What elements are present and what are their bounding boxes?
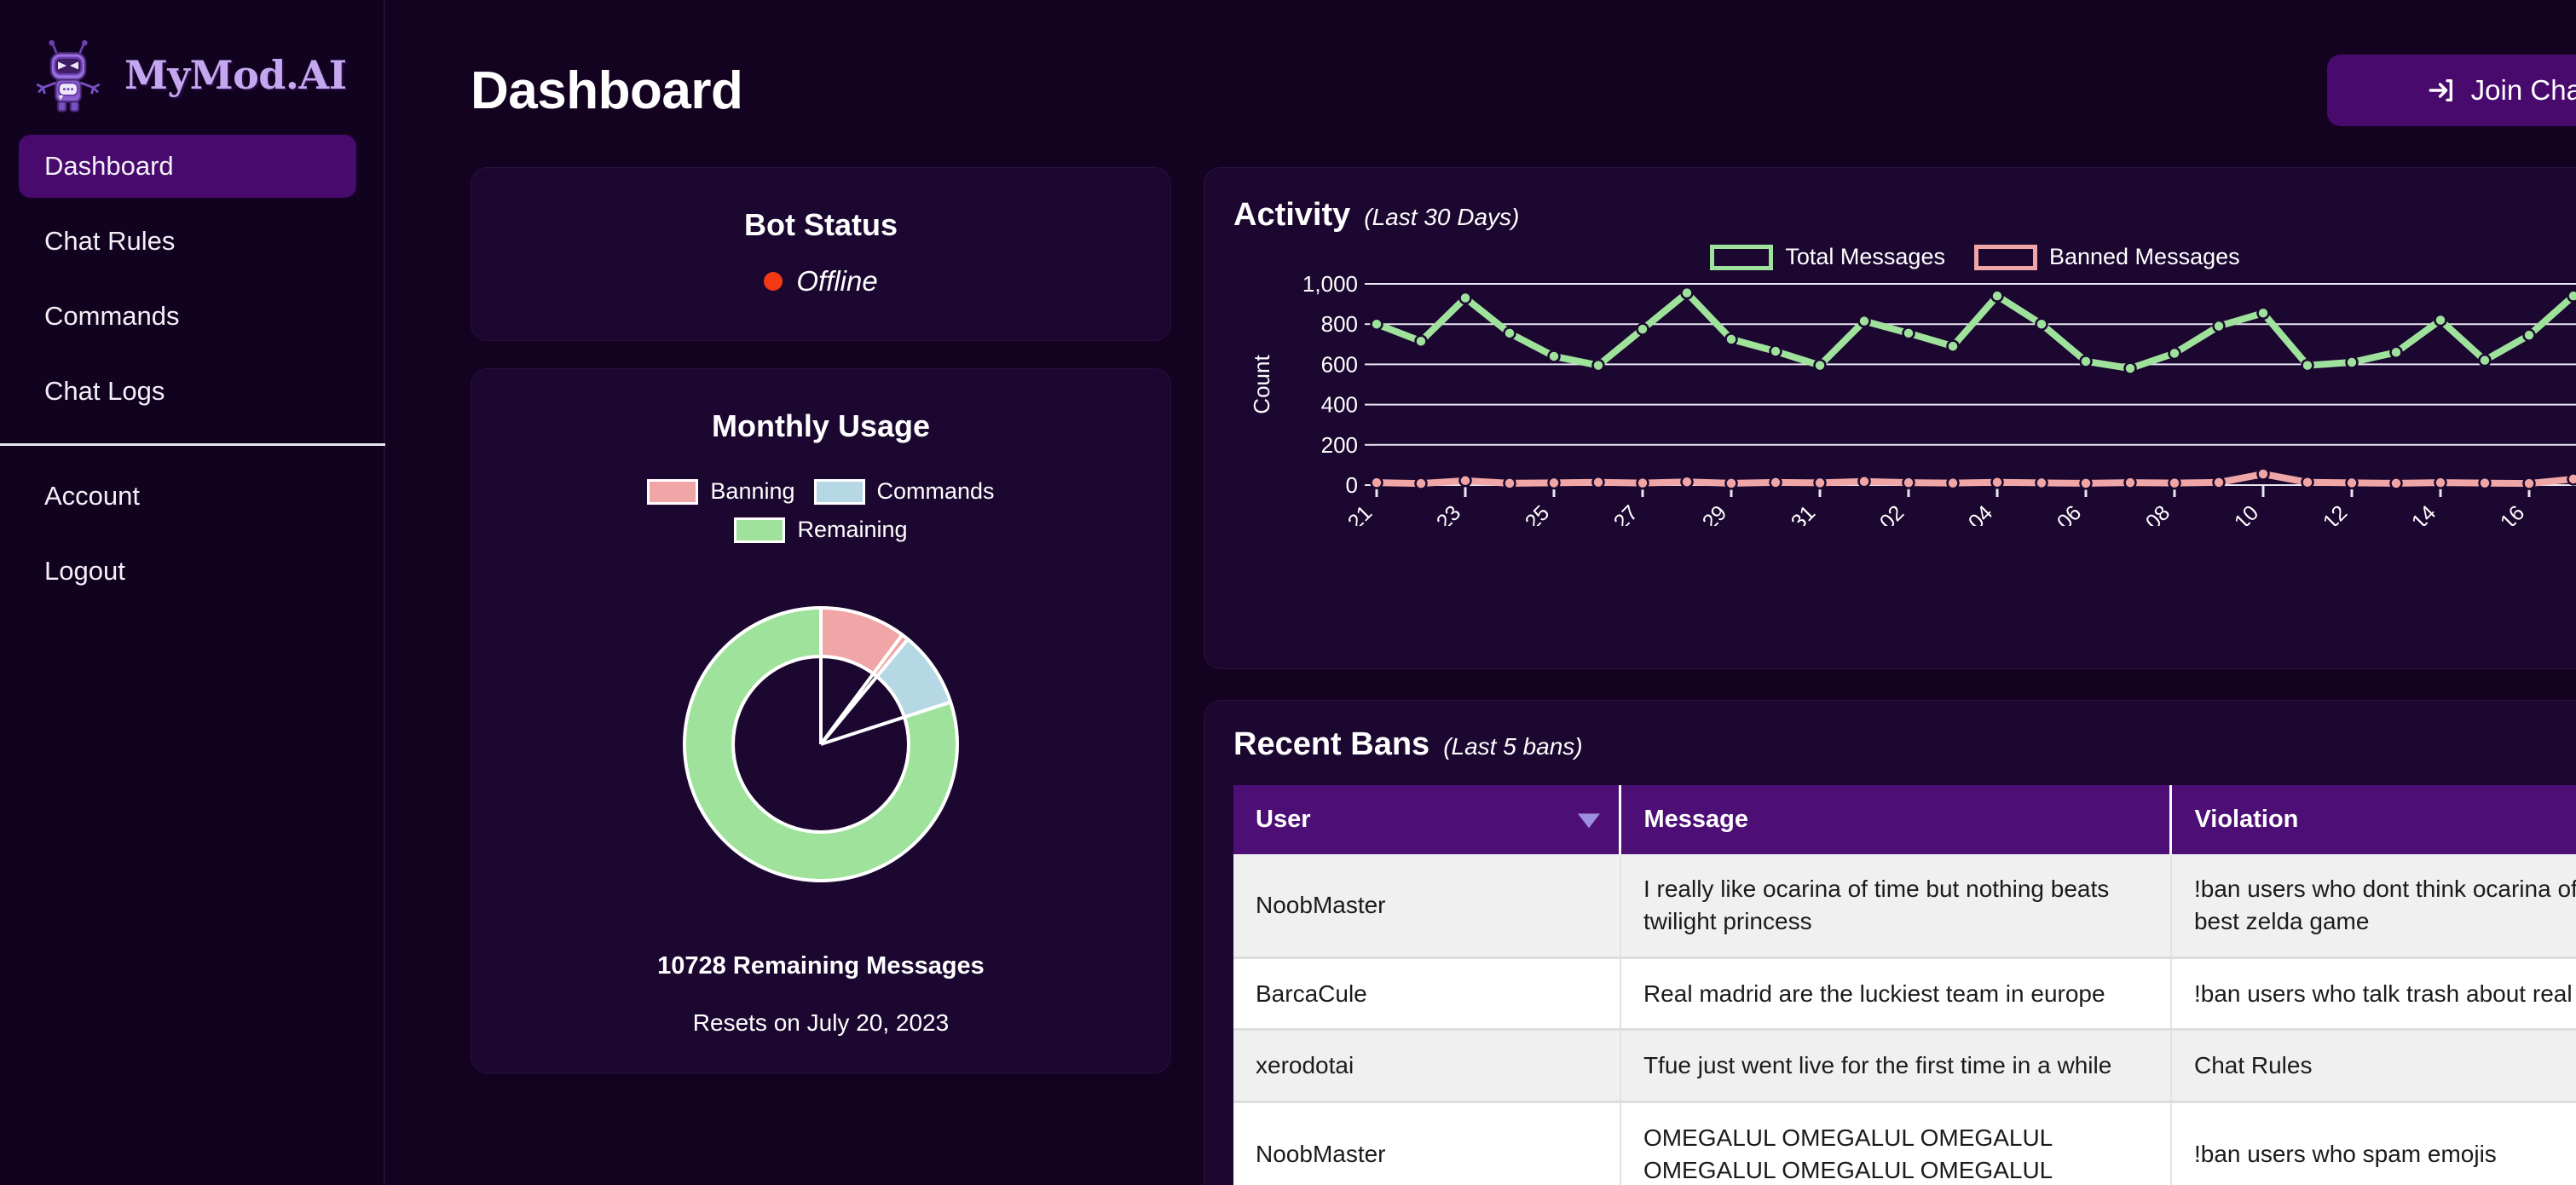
- status-dot-icon: [764, 272, 783, 291]
- legend-label: Remaining: [797, 517, 907, 543]
- robot-icon: [29, 36, 107, 114]
- sidebar-item-label: Commands: [44, 301, 180, 331]
- legend-item-total-messages[interactable]: Total Messages: [1710, 244, 1945, 270]
- table-row[interactable]: NoobMasterOMEGALUL OMEGALUL OMEGALUL OME…: [1233, 1102, 2576, 1185]
- ban-message-cell: OMEGALUL OMEGALUL OMEGALUL OMEGALUL OMEG…: [1620, 1102, 2171, 1185]
- legend-item-remaining[interactable]: Remaining: [734, 517, 907, 543]
- ban-message-cell: I really like ocarina of time but nothin…: [1620, 854, 2171, 957]
- usage-total-label: 10728 Remaining Messages: [471, 952, 1170, 980]
- brand-name: MyMod.AI: [124, 52, 347, 98]
- svg-text:400: 400: [1321, 392, 1358, 418]
- legend-item-commands[interactable]: Commands: [814, 478, 995, 505]
- svg-text:2023-05-29: 2023-05-29: [1637, 500, 1731, 526]
- sidebar-item-label: Dashboard: [44, 151, 174, 181]
- recent-bans-card: Recent Bans (Last 5 bans) User: [1204, 700, 2576, 1185]
- legend-label: Banning: [710, 478, 794, 505]
- ban-user-cell: NoobMaster: [1233, 854, 1620, 957]
- join-channel-label: Join Channel: [2471, 74, 2576, 107]
- sidebar-item-label: Logout: [44, 556, 125, 586]
- svg-text:2023-06-06: 2023-06-06: [1992, 500, 2086, 526]
- column-header-label: Message: [1643, 806, 1748, 833]
- recent-bans-title: Recent Bans: [1233, 726, 1430, 763]
- column-header-label: User: [1256, 806, 1311, 833]
- svg-text:2023-06-02: 2023-06-02: [1815, 500, 1909, 526]
- sidebar: MyMod.AI Dashboard Chat Rules Commands C…: [0, 0, 385, 1185]
- ban-violation-cell: Chat Rules: [2171, 1030, 2576, 1102]
- column-header-violation[interactable]: Violation: [2171, 785, 2576, 854]
- sidebar-divider: [0, 443, 385, 446]
- svg-text:2023-05-31: 2023-05-31: [1726, 500, 1820, 526]
- sidebar-nav-secondary: Account Logout: [0, 465, 384, 603]
- dashboard-grid: Bot Status Offline Monthly Usage Banning: [385, 126, 2576, 1185]
- usage-legend-row-1: Banning Commands: [471, 478, 1170, 505]
- svg-text:800: 800: [1321, 311, 1358, 337]
- svg-text:2023-06-16: 2023-06-16: [2435, 500, 2529, 526]
- legend-swatch-commands: [814, 479, 865, 505]
- monthly-usage-title: Monthly Usage: [471, 408, 1170, 444]
- svg-text:Count: Count: [1249, 355, 1274, 414]
- activity-title: Activity: [1233, 197, 1350, 234]
- brand[interactable]: MyMod.AI: [0, 0, 384, 119]
- usage-legend-row-2: Remaining: [471, 517, 1170, 543]
- usage-reset-label: Resets on July 20, 2023: [471, 1009, 1170, 1037]
- activity-legend: Total Messages Banned Messages: [1233, 244, 2576, 270]
- sidebar-item-label: Chat Logs: [44, 376, 165, 406]
- svg-text:200: 200: [1321, 432, 1358, 458]
- ban-message-cell: Real madrid are the luckiest team in eur…: [1620, 957, 2171, 1030]
- legend-label: Banned Messages: [2049, 244, 2240, 270]
- activity-subtitle: (Last 30 Days): [1364, 204, 1519, 231]
- sidebar-item-commands[interactable]: Commands: [19, 285, 356, 348]
- recent-bans-subtitle: (Last 5 bans): [1443, 733, 1582, 760]
- svg-text:2023-06-14: 2023-06-14: [2347, 500, 2440, 526]
- ban-user-cell: NoobMaster: [1233, 1102, 1620, 1185]
- table-row[interactable]: BarcaCuleReal madrid are the luckiest te…: [1233, 957, 2576, 1030]
- sidebar-item-chat-logs[interactable]: Chat Logs: [19, 360, 356, 423]
- sidebar-item-dashboard[interactable]: Dashboard: [19, 135, 356, 198]
- svg-text:2023-06-10: 2023-06-10: [2169, 500, 2263, 526]
- svg-text:2023-05-21: 2023-05-21: [1283, 500, 1377, 526]
- left-column: Bot Status Offline Monthly Usage Banning: [471, 167, 1171, 1073]
- svg-text:2023-06-08: 2023-06-08: [2081, 500, 2175, 526]
- svg-text:2023-05-25: 2023-05-25: [1460, 500, 1554, 526]
- bot-status-card: Bot Status Offline: [471, 167, 1171, 341]
- bot-status-title: Bot Status: [471, 207, 1170, 243]
- ban-user-cell: BarcaCule: [1233, 957, 1620, 1030]
- table-body: NoobMasterI really like ocarina of time …: [1233, 854, 2576, 1185]
- svg-text:2023-06-04: 2023-06-04: [1903, 500, 1997, 526]
- sidebar-item-label: Chat Rules: [44, 226, 175, 256]
- svg-text:600: 600: [1321, 351, 1358, 377]
- table-head: User Message Violation: [1233, 785, 2576, 854]
- sidebar-nav-primary: Dashboard Chat Rules Commands Chat Logs: [0, 119, 384, 446]
- join-channel-button[interactable]: Join Channel: [2327, 55, 2576, 126]
- svg-text:2023-05-27: 2023-05-27: [1549, 500, 1643, 526]
- sidebar-item-logout[interactable]: Logout: [19, 540, 356, 603]
- monthly-usage-card: Monthly Usage Banning Commands: [471, 368, 1171, 1073]
- table-row[interactable]: NoobMasterI really like ocarina of time …: [1233, 854, 2576, 957]
- page-title: Dashboard: [471, 61, 742, 121]
- column-header-label: Violation: [2194, 806, 2298, 833]
- legend-label: Total Messages: [1785, 244, 1945, 270]
- usage-donut-chart: [471, 565, 1170, 923]
- activity-header: Activity (Last 30 Days): [1233, 197, 2576, 234]
- sidebar-item-label: Account: [44, 481, 140, 511]
- column-header-message[interactable]: Message: [1620, 785, 2171, 854]
- legend-swatch-total-messages: [1710, 245, 1773, 270]
- legend-item-banning[interactable]: Banning: [647, 478, 794, 505]
- chevron-down-icon[interactable]: [1578, 813, 1600, 828]
- sidebar-item-account[interactable]: Account: [19, 465, 356, 528]
- svg-text:2023-05-23: 2023-05-23: [1372, 500, 1465, 526]
- recent-bans-table: User Message Violation: [1233, 785, 2576, 1185]
- legend-swatch-remaining: [734, 517, 785, 543]
- table-row[interactable]: xerodotaiTfue just went live for the fir…: [1233, 1030, 2576, 1102]
- legend-swatch-banned-messages: [1974, 245, 2037, 270]
- column-header-user[interactable]: User: [1233, 785, 1620, 854]
- ban-violation-cell: !ban users who dont think ocarina of tim…: [2171, 854, 2576, 957]
- legend-swatch-banning: [647, 479, 698, 505]
- right-column: Activity (Last 30 Days) Total Messages B…: [1204, 167, 2576, 1185]
- ban-user-cell: xerodotai: [1233, 1030, 1620, 1102]
- main-content: Dashboard Join Channel Bot Status: [385, 0, 2576, 1185]
- table-header-row: User Message Violation: [1233, 785, 2576, 854]
- svg-text:0: 0: [1346, 472, 1358, 498]
- ban-message-cell: Tfue just went live for the first time i…: [1620, 1030, 2171, 1102]
- sidebar-item-chat-rules[interactable]: Chat Rules: [19, 210, 356, 273]
- legend-label: Commands: [877, 478, 995, 505]
- activity-card: Activity (Last 30 Days) Total Messages B…: [1204, 167, 2576, 669]
- status-badge: Offline: [471, 265, 1170, 298]
- app-root: MyMod.AI Dashboard Chat Rules Commands C…: [0, 0, 2576, 1185]
- svg-text:2023-06-12: 2023-06-12: [2258, 500, 2352, 526]
- ban-violation-cell: !ban users who talk trash about real mad…: [2171, 957, 2576, 1030]
- recent-bans-header: Recent Bans (Last 5 bans): [1233, 726, 2576, 763]
- activity-line-chart: Count02004006008001,0002023-05-212023-05…: [1233, 270, 2576, 526]
- svg-text:1,000: 1,000: [1302, 271, 1358, 297]
- svg-text:2023-06-18: 2023-06-18: [2524, 500, 2576, 526]
- legend-item-banned-messages[interactable]: Banned Messages: [1974, 244, 2240, 270]
- topbar: Dashboard Join Channel: [385, 0, 2576, 126]
- bot-status-value: Offline: [796, 265, 877, 298]
- sign-in-icon: [2427, 76, 2456, 105]
- ban-violation-cell: !ban users who spam emojis: [2171, 1102, 2576, 1185]
